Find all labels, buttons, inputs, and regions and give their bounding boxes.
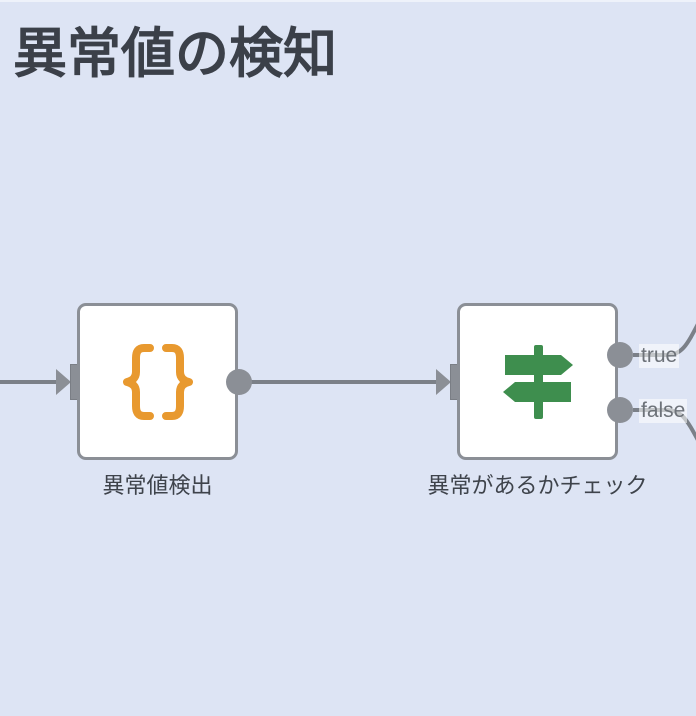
output-port-false[interactable] (607, 397, 633, 423)
output-port-function[interactable] (226, 369, 252, 395)
page-title: 異常値の検知 (13, 24, 337, 84)
node-label-function: 異常値検出 (77, 468, 238, 500)
output-port-true[interactable] (607, 342, 633, 368)
signpost-icon (460, 306, 615, 457)
output-port-label-false: false (639, 399, 687, 423)
output-port-label-true: true (639, 344, 679, 368)
input-arrow-switch (436, 369, 451, 395)
node-label-switch: 異常があるかチェック (397, 468, 678, 500)
input-arrow-function (56, 369, 71, 395)
node-switch[interactable] (457, 303, 618, 460)
flow-canvas[interactable]: 異常値の検知 異常値検出 (0, 0, 696, 716)
node-function[interactable] (77, 303, 238, 460)
curly-braces-icon (80, 306, 235, 457)
